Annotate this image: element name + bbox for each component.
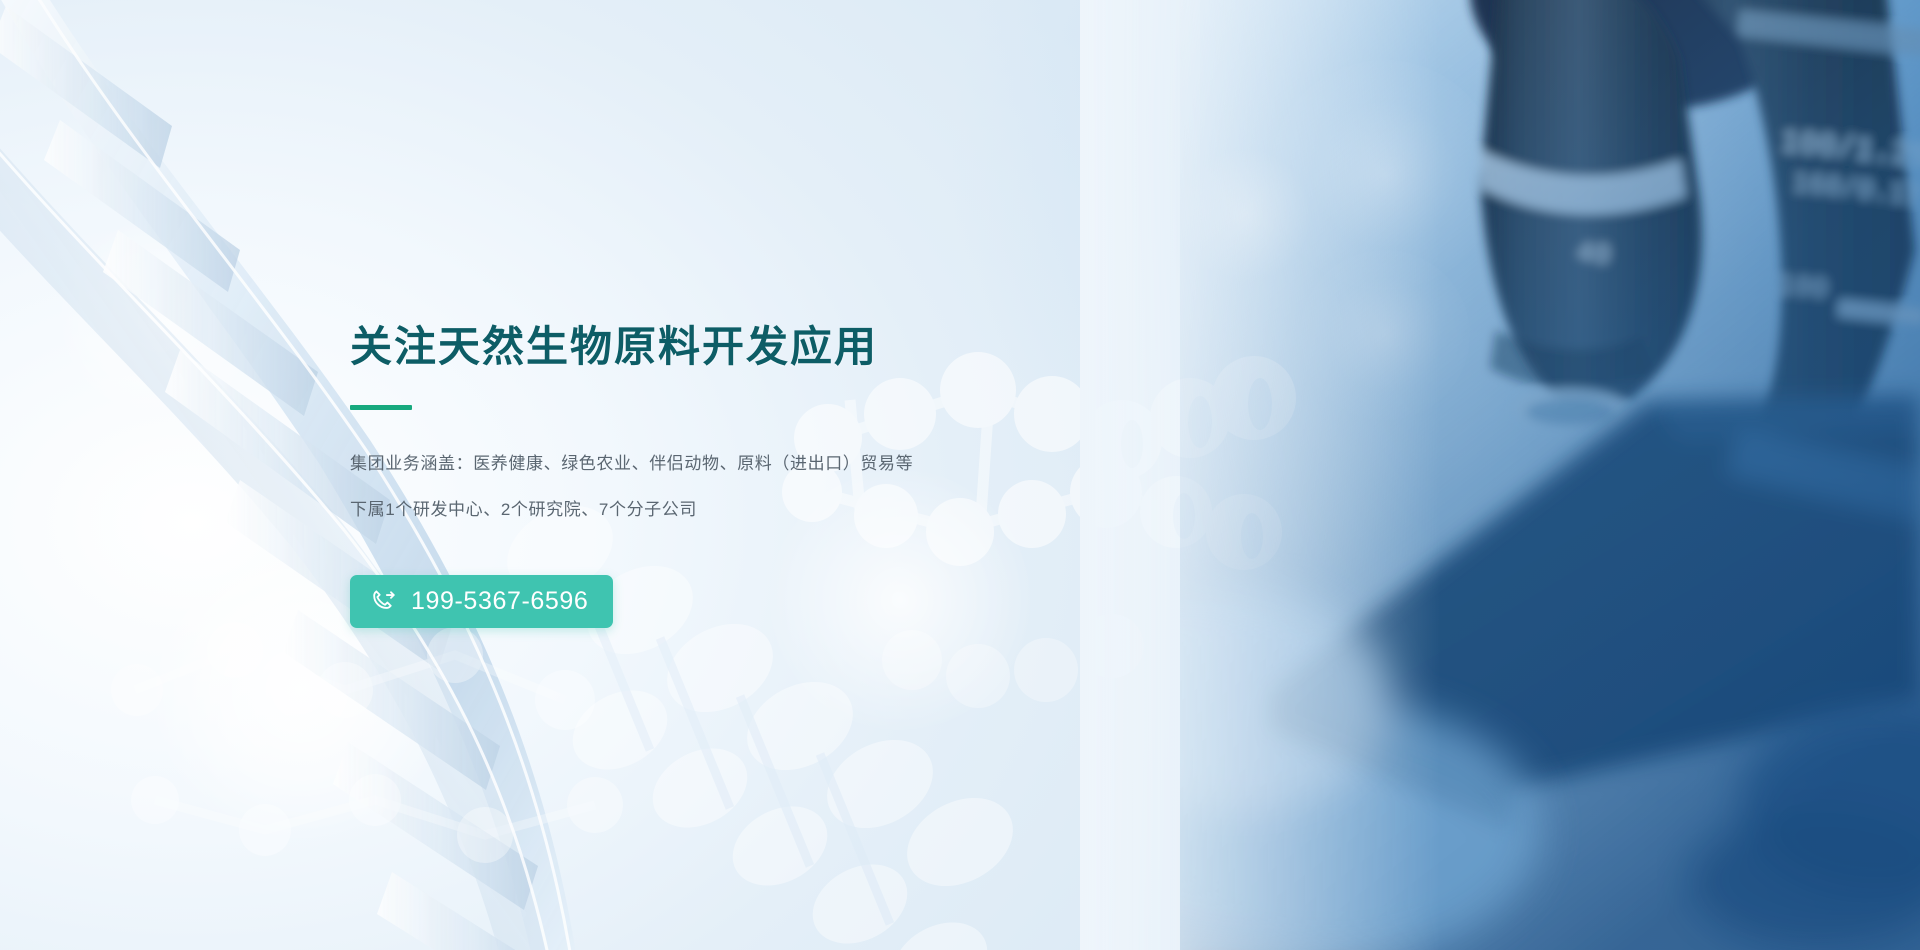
hero-content: 关注天然生物原料开发应用 集团业务涵盖：医养健康、绿色农业、伴侣动物、原料（进出… (350, 322, 1070, 628)
title-divider (350, 405, 412, 410)
hero-description: 集团业务涵盖：医养健康、绿色农业、伴侣动物、原料（进出口）贸易等 下属1个研发中… (350, 448, 1070, 527)
description-line-1: 集团业务涵盖：医养健康、绿色农业、伴侣动物、原料（进出口）贸易等 (350, 448, 1070, 480)
phone-forwarded-icon (371, 588, 398, 615)
page-title: 关注天然生物原料开发应用 (350, 322, 1070, 372)
phone-cta-button[interactable]: 199-5367-6596 (350, 575, 613, 628)
hero-banner: 100/1.25 160/0.17 100 40 (0, 0, 1920, 950)
description-line-2: 下属1个研发中心、2个研究院、7个分子公司 (350, 494, 1070, 526)
phone-number: 199-5367-6596 (411, 589, 588, 614)
scope-edge-blend (1080, 0, 1440, 950)
